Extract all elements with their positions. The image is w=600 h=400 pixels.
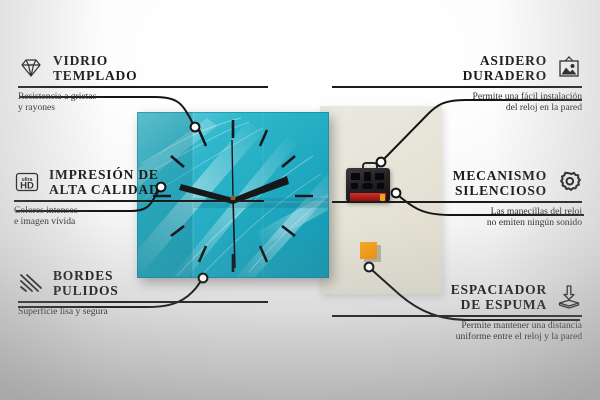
feature-description: Permite una fácil instalación del reloj …: [332, 91, 582, 114]
feature-title-line2: TEMPLADO: [53, 68, 137, 83]
feature-divider: [332, 86, 582, 88]
feature-espaciador-de-espuma: ESPACIADOR DE ESPUMA Permite mantener un…: [332, 282, 582, 342]
feature-desc-line2: y rayones: [18, 102, 268, 113]
feature-header: ASIDERO DURADERO: [332, 53, 582, 83]
feature-header: ultra HD IMPRESIÓN DE ALTA CALIDAD: [14, 167, 264, 197]
feature-header: MECANISMO SILENCIOSO: [332, 168, 582, 198]
feature-description: Colores intensos e imagen vívida: [14, 205, 264, 228]
feature-title: IMPRESIÓN DE ALTA CALIDAD: [49, 167, 160, 197]
feature-header: VIDRIO TEMPLADO: [18, 53, 268, 83]
feature-title-line2: ALTA CALIDAD: [49, 182, 160, 197]
feature-title-line1: VIDRIO: [53, 53, 137, 68]
feature-title-line1: BORDES: [53, 268, 119, 283]
feature-title: MECANISMO SILENCIOSO: [453, 168, 547, 198]
feature-desc-line2: e imagen vívida: [14, 216, 264, 227]
feature-title-line1: ASIDERO: [463, 53, 547, 68]
feature-bordes-pulidos: BORDES PULIDOS Superficie lisa y segura: [18, 268, 268, 317]
feature-title-line1: IMPRESIÓN DE: [49, 167, 160, 182]
gear-icon: [556, 170, 582, 196]
arrow-press-pad-icon: [556, 284, 582, 310]
feature-description: Permite mantener una distancia uniforme …: [332, 320, 582, 343]
feature-desc-line1: Las manecillas del reloj: [332, 206, 582, 217]
feature-description: Superficie lisa y segura: [18, 306, 268, 317]
feature-title-line1: MECANISMO: [453, 168, 547, 183]
feature-title-line2: DE ESPUMA: [451, 297, 547, 312]
ultra-hd-icon-main-text: HD: [20, 181, 34, 192]
diamond-icon: [18, 55, 44, 81]
feature-title-line2: PULIDOS: [53, 283, 119, 298]
feature-divider: [18, 301, 268, 303]
foam-spacer-top: [360, 242, 377, 259]
feature-title-line2: SILENCIOSO: [453, 183, 547, 198]
feature-description: Las manecillas del reloj no emiten ningú…: [332, 206, 582, 229]
feature-title: ESPACIADOR DE ESPUMA: [451, 282, 547, 312]
feature-title: ASIDERO DURADERO: [463, 53, 547, 83]
feature-desc-line1: Permite una fácil instalación: [332, 91, 582, 102]
foam-spacer: [360, 242, 378, 260]
ultra-hd-icon: ultra HD: [14, 169, 40, 195]
feature-title: VIDRIO TEMPLADO: [53, 53, 137, 83]
feature-header: ESPACIADOR DE ESPUMA: [332, 282, 582, 312]
feature-mecanismo-silencioso: MECANISMO SILENCIOSO Las manecillas del …: [332, 168, 582, 228]
feature-description: Resistencia a grietas y rayones: [18, 91, 268, 114]
feature-header: BORDES PULIDOS: [18, 268, 268, 298]
feature-divider: [14, 200, 264, 202]
feature-title-line1: ESPACIADOR: [451, 282, 547, 297]
feature-divider: [332, 315, 582, 317]
feature-desc-line2: del reloj en la pared: [332, 102, 582, 113]
feature-vidrio-templado: VIDRIO TEMPLADO Resistencia a grietas y …: [18, 53, 268, 113]
framed-picture-icon: [556, 55, 582, 81]
feature-title-line2: DURADERO: [463, 68, 547, 83]
feature-desc-line1: Resistencia a grietas: [18, 91, 268, 102]
infographic-canvas: VIDRIO TEMPLADO Resistencia a grietas y …: [0, 0, 600, 400]
feature-divider: [18, 86, 268, 88]
feature-title: BORDES PULIDOS: [53, 268, 119, 298]
feature-impresion-alta-calidad: ultra HD IMPRESIÓN DE ALTA CALIDAD Color…: [14, 167, 264, 227]
feature-asidero-duradero: ASIDERO DURADERO Permite una fácil insta…: [332, 53, 582, 113]
feature-desc-line2: no emiten ningún sonido: [332, 217, 582, 228]
diagonal-lines-icon: [18, 270, 44, 296]
feature-desc-line2: uniforme entre el reloj y la pared: [332, 331, 582, 342]
feature-desc-line1: Superficie lisa y segura: [18, 306, 268, 317]
feature-divider: [332, 201, 582, 203]
feature-desc-line1: Colores intensos: [14, 205, 264, 216]
feature-desc-line1: Permite mantener una distancia: [332, 320, 582, 331]
